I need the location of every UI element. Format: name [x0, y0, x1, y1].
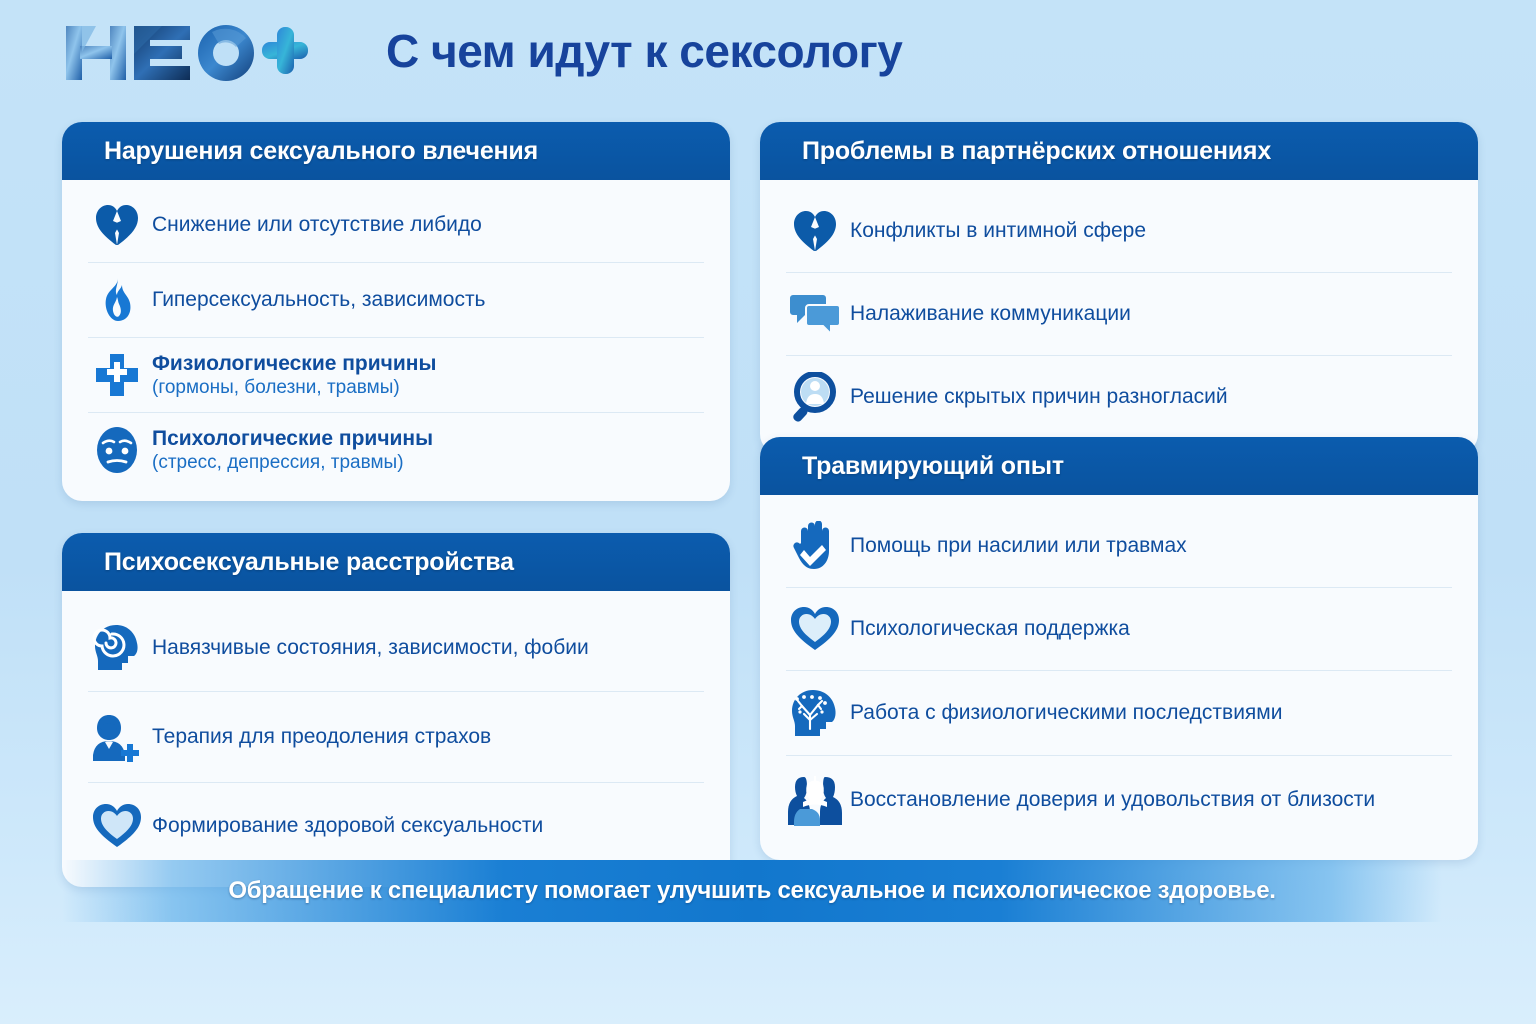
list-item-text: Навязчивые состояния, зависимости, фобии	[152, 636, 589, 660]
list-item-text: Восстановление доверия и удовольствия от…	[850, 788, 1375, 812]
list-item[interactable]: Снижение или отсутствие либидо	[88, 188, 704, 263]
list-item-title: Конфликты в интимной сфере	[850, 219, 1146, 242]
card-psychosexual: Психосексуальные расстройства Навязчивые…	[62, 533, 730, 887]
list-item-subtitle: (гормоны, болезни, травмы)	[152, 377, 436, 398]
list-item[interactable]: Налаживание коммуникации	[786, 273, 1452, 356]
card-partner-relations-title: Проблемы в партнёрских отношениях	[802, 137, 1271, 166]
list-item-text: Психологические причины (стресс, депресс…	[152, 427, 433, 474]
couple-icon	[786, 772, 844, 828]
list-item-text: Гиперсексуальность, зависимость	[152, 288, 486, 312]
card-libido-body: Снижение или отсутствие либидо Гиперсекс…	[62, 180, 730, 501]
logo-plus-icon	[262, 27, 308, 74]
broken-heart-icon	[88, 197, 146, 253]
card-psychosexual-body: Навязчивые состояния, зависимости, фобии…	[62, 591, 730, 887]
list-item[interactable]: Восстановление доверия и удовольствия от…	[786, 756, 1452, 844]
magnifier-person-icon	[786, 369, 844, 425]
list-item-title: Формирование здоровой сексуальности	[152, 814, 543, 837]
heart-icon	[786, 601, 844, 657]
medical-cross-icon	[88, 347, 146, 403]
list-item-title: Психологическая поддержка	[850, 617, 1130, 640]
logo-letter-n	[66, 26, 126, 80]
list-item[interactable]: Решение скрытых причин разногласий	[786, 356, 1452, 438]
card-trauma: Травмирующий опыт Помощь при насилии или…	[760, 437, 1478, 860]
card-trauma-header: Травмирующий опыт	[760, 437, 1478, 495]
list-item-title: Налаживание коммуникации	[850, 302, 1131, 325]
brand-logo	[62, 22, 310, 84]
card-partner-relations-header: Проблемы в партнёрских отношениях	[760, 122, 1478, 180]
list-item[interactable]: Физиологические причины (гормоны, болезн…	[88, 338, 704, 413]
card-psychosexual-title: Психосексуальные расстройства	[104, 548, 514, 577]
logo-letter-e	[134, 26, 190, 80]
speech-bubbles-icon	[786, 286, 844, 342]
card-partner-relations-body: Конфликты в интимной сфере Налаживание к…	[760, 180, 1478, 454]
list-item-text: Снижение или отсутствие либидо	[152, 213, 482, 237]
card-trauma-body: Помощь при насилии или травмах Психологи…	[760, 495, 1478, 860]
broken-heart-icon	[786, 203, 844, 259]
flame-icon	[88, 272, 146, 328]
heart-icon	[88, 798, 146, 854]
card-libido-title: Нарушения сексуального влечения	[104, 137, 538, 166]
list-item-text: Психологическая поддержка	[850, 617, 1130, 641]
card-partner-relations: Проблемы в партнёрских отношениях Конфли…	[760, 122, 1478, 454]
list-item[interactable]: Помощь при насилии или травмах	[786, 505, 1452, 588]
list-item-title: Решение скрытых причин разногласий	[850, 385, 1228, 408]
sad-face-icon	[88, 422, 146, 478]
logo-letter-o	[198, 25, 254, 81]
infographic-page: С чем идут к сексологу Нарушения сексуал…	[0, 0, 1536, 1024]
list-item-text: Формирование здоровой сексуальности	[152, 814, 543, 838]
page-title: С чем идут к сексологу	[386, 24, 1286, 78]
list-item-title: Снижение или отсутствие либидо	[152, 213, 482, 236]
list-item-text: Физиологические причины (гормоны, болезн…	[152, 352, 436, 399]
hand-check-icon	[786, 518, 844, 574]
list-item-title: Помощь при насилии или травмах	[850, 534, 1187, 557]
footer-banner: Обращение к специалисту помогает улучшит…	[62, 860, 1442, 922]
list-item-title: Восстановление доверия и удовольствия от…	[850, 788, 1375, 811]
list-item[interactable]: Навязчивые состояния, зависимости, фобии	[88, 605, 704, 692]
list-item-title: Навязчивые состояния, зависимости, фобии	[152, 636, 589, 659]
list-item[interactable]: Конфликты в интимной сфере	[786, 190, 1452, 273]
footer-text: Обращение к специалисту помогает улучшит…	[228, 877, 1275, 905]
head-tree-icon	[786, 685, 844, 741]
list-item-text: Конфликты в интимной сфере	[850, 219, 1146, 243]
list-item[interactable]: Формирование здоровой сексуальности	[88, 783, 704, 869]
list-item-title: Гиперсексуальность, зависимость	[152, 288, 486, 311]
page-header: С чем идут к сексологу	[0, 0, 1536, 112]
list-item-subtitle: (стресс, депрессия, травмы)	[152, 452, 433, 473]
list-item-title: Физиологические причины	[152, 352, 436, 375]
list-item[interactable]: Гиперсексуальность, зависимость	[88, 263, 704, 338]
card-psychosexual-header: Психосексуальные расстройства	[62, 533, 730, 591]
list-item-title: Психологические причины	[152, 427, 433, 450]
list-item-title: Терапия для преодоления страхов	[152, 725, 491, 748]
list-item[interactable]: Психологическая поддержка	[786, 588, 1452, 671]
head-spiral-icon	[88, 620, 146, 676]
card-libido-header: Нарушения сексуального влечения	[62, 122, 730, 180]
card-libido: Нарушения сексуального влечения Снижение…	[62, 122, 730, 501]
list-item-text: Налаживание коммуникации	[850, 302, 1131, 326]
list-item[interactable]: Работа с физиологическими последствиями	[786, 671, 1452, 756]
list-item-title: Работа с физиологическими последствиями	[850, 701, 1282, 724]
list-item[interactable]: Терапия для преодоления страхов	[88, 692, 704, 783]
list-item-text: Решение скрытых причин разногласий	[850, 385, 1228, 409]
list-item[interactable]: Психологические причины (стресс, депресс…	[88, 413, 704, 487]
list-item-text: Терапия для преодоления страхов	[152, 725, 491, 749]
list-item-text: Работа с физиологическими последствиями	[850, 701, 1282, 725]
list-item-text: Помощь при насилии или травмах	[850, 534, 1187, 558]
person-plus-icon	[88, 709, 146, 765]
card-trauma-title: Травмирующий опыт	[802, 452, 1064, 481]
